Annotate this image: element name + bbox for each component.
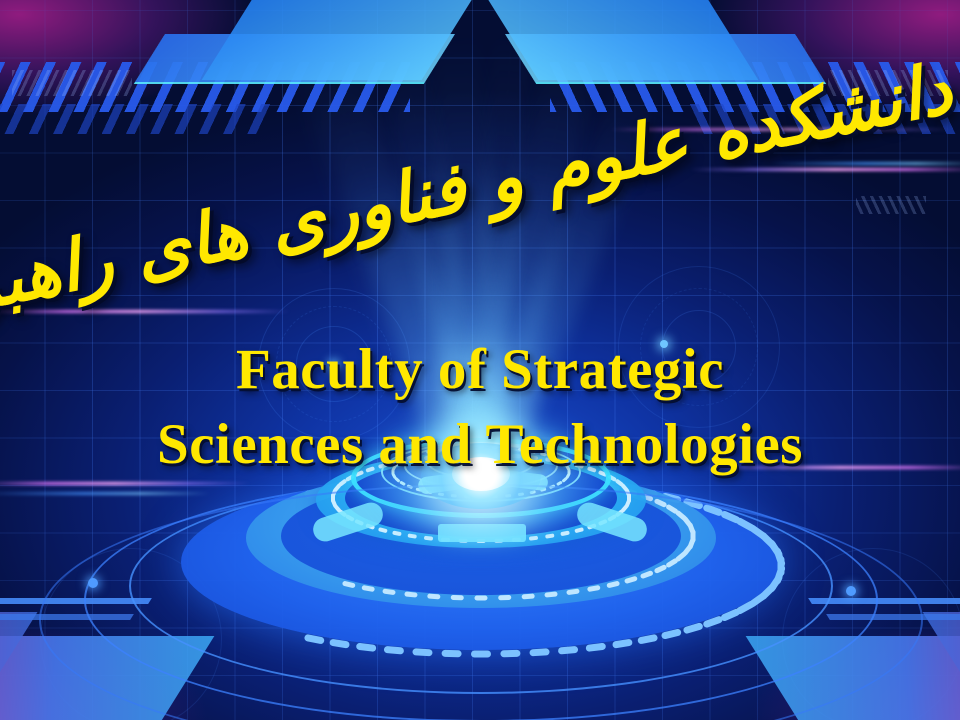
title-text-block: دانشکده علوم و فناوری های راهبردی Facult… — [0, 0, 960, 720]
english-title: Faculty of Strategic Sciences and Techno… — [0, 332, 960, 482]
title-slide: دانشکده علوم و فناوری های راهبردی Facult… — [0, 0, 960, 720]
english-title-line-1: Faculty of Strategic — [0, 332, 960, 407]
english-title-line-2: Sciences and Technologies — [0, 407, 960, 482]
persian-title: دانشکده علوم و فناوری های راهبردی — [1, 47, 958, 319]
